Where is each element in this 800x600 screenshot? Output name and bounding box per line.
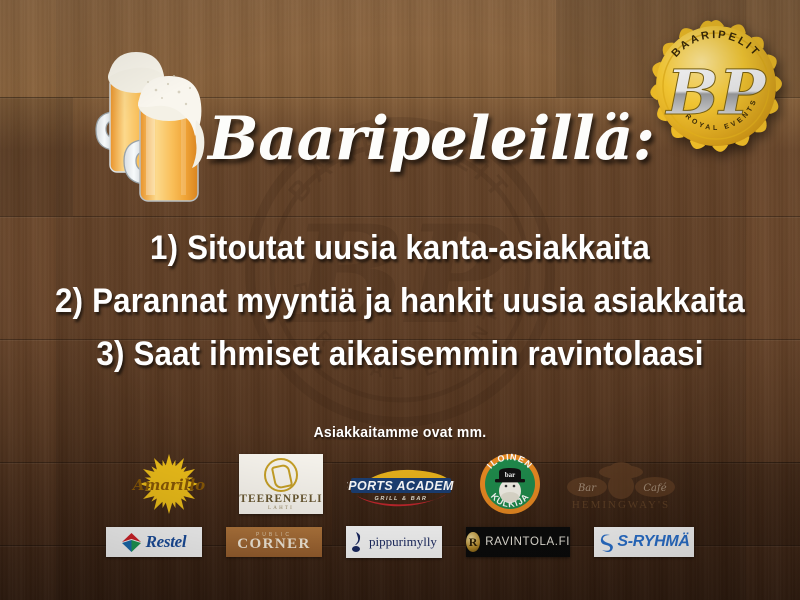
presentation-slide: BAARIPELIT BY ROYAL EVENTS BP	[0, 0, 800, 600]
vignette-overlay	[0, 0, 800, 600]
